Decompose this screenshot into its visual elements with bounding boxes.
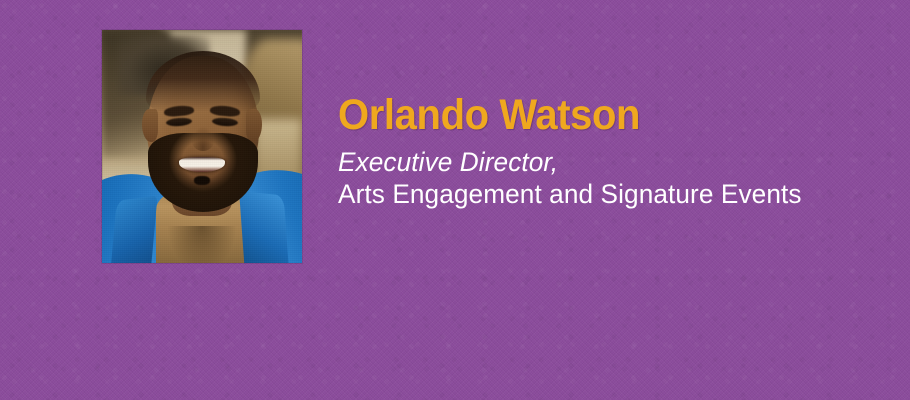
speaker-title-line-1: Executive Director,: [338, 146, 862, 178]
photo-grain-overlay: [102, 30, 302, 263]
speaker-title-line-2: Arts Engagement and Signature Events: [338, 178, 862, 211]
portrait-photo: [102, 30, 302, 263]
speaker-text-block: Orlando Watson Executive Director, Arts …: [338, 92, 878, 211]
speaker-banner: Orlando Watson Executive Director, Arts …: [0, 0, 910, 400]
speaker-name: Orlando Watson: [338, 92, 840, 139]
